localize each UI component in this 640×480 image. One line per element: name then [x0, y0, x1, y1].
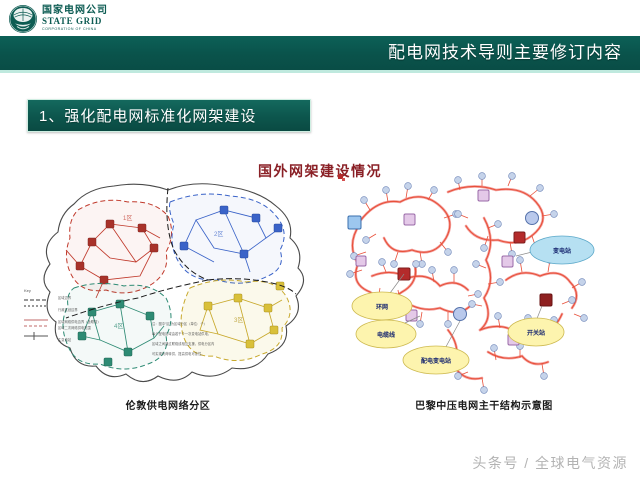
london-legend-entry-2: 行政区划边界 [58, 308, 78, 313]
state-grid-logo: 国家电网公司 STATE GRID CORPORATION OF CHINA [8, 4, 208, 34]
section-banner: 1、强化配电网标准化网架建设 [27, 99, 311, 132]
london-legend-entry-1: 区域边界 [58, 296, 71, 301]
slide-root: 国家电网公司 STATE GRID CORPORATION OF CHINA 配… [0, 0, 640, 480]
logo-name-sub: CORPORATION OF CHINA [42, 26, 108, 32]
london-legend-note-4: 可实现负荷转供，提高供电可靠性。 [152, 352, 205, 357]
london-legend-entry-4: 区域二次网络供电范围 [58, 326, 91, 331]
svg-text:2区: 2区 [214, 231, 223, 238]
paris-callout-blue-label: 变电站 [553, 247, 571, 255]
svg-text:1区: 1区 [123, 215, 132, 222]
paris-callout-yellow-4-label: 开关站 [527, 329, 545, 337]
figure-london-caption: 伦敦供电网络分区 [18, 400, 318, 413]
london-legend-symbols: Key [24, 288, 48, 340]
logo-name-cn: 国家电网公司 [42, 5, 108, 16]
svg-text:Key: Key [24, 288, 31, 293]
svg-text:3区: 3区 [234, 317, 243, 324]
logo-name-en: STATE GRID [42, 16, 108, 26]
section-banner-label: 1、强化配电网标准化网架建设 [39, 106, 256, 127]
logo-wordmark: 国家电网公司 STATE GRID CORPORATION OF CHINA [42, 5, 108, 32]
svg-text:4区: 4区 [114, 323, 123, 330]
london-legend-entry-3: 区域网络供电边界（含联络） [58, 320, 101, 325]
state-grid-emblem-icon [8, 4, 38, 34]
london-legend-entry-5: 主变电站 [58, 338, 71, 343]
paris-network-svg: 变电站 环网 电缆线 配电变电站 开关站 [336, 172, 632, 400]
paris-corner-mark [338, 174, 345, 181]
page-title: 配电网技术导则主要修订内容 [388, 40, 622, 66]
figure-paris-caption: 巴黎中压电网主干结构示意图 [336, 400, 632, 413]
paris-callout-yellow-2-label: 电缆线 [377, 331, 395, 339]
figure-paris-network: 变电站 环网 电缆线 配电变电站 开关站 巴黎中压电网主干结构示意图 [336, 172, 632, 421]
watermark: 头条号 / 全球电气资源 [472, 454, 628, 472]
london-legend-note-3: 区域之间通过联络线相互支援，供电分区内 [152, 342, 214, 347]
london-legend-note-1: 注：图中“区”为区域分区（单位：个） [152, 322, 207, 327]
paris-callout-yellow-1-label: 环网 [376, 303, 388, 311]
paris-callout-yellow-3-label: 配电变电站 [421, 357, 451, 365]
header-underline [0, 70, 640, 73]
london-legend-note-2: 每个配电区域由若干个一次变电站供电， [152, 332, 211, 337]
figure-london-map: 1区 2区 [18, 176, 318, 421]
london-map-svg: 1区 2区 [18, 176, 318, 401]
